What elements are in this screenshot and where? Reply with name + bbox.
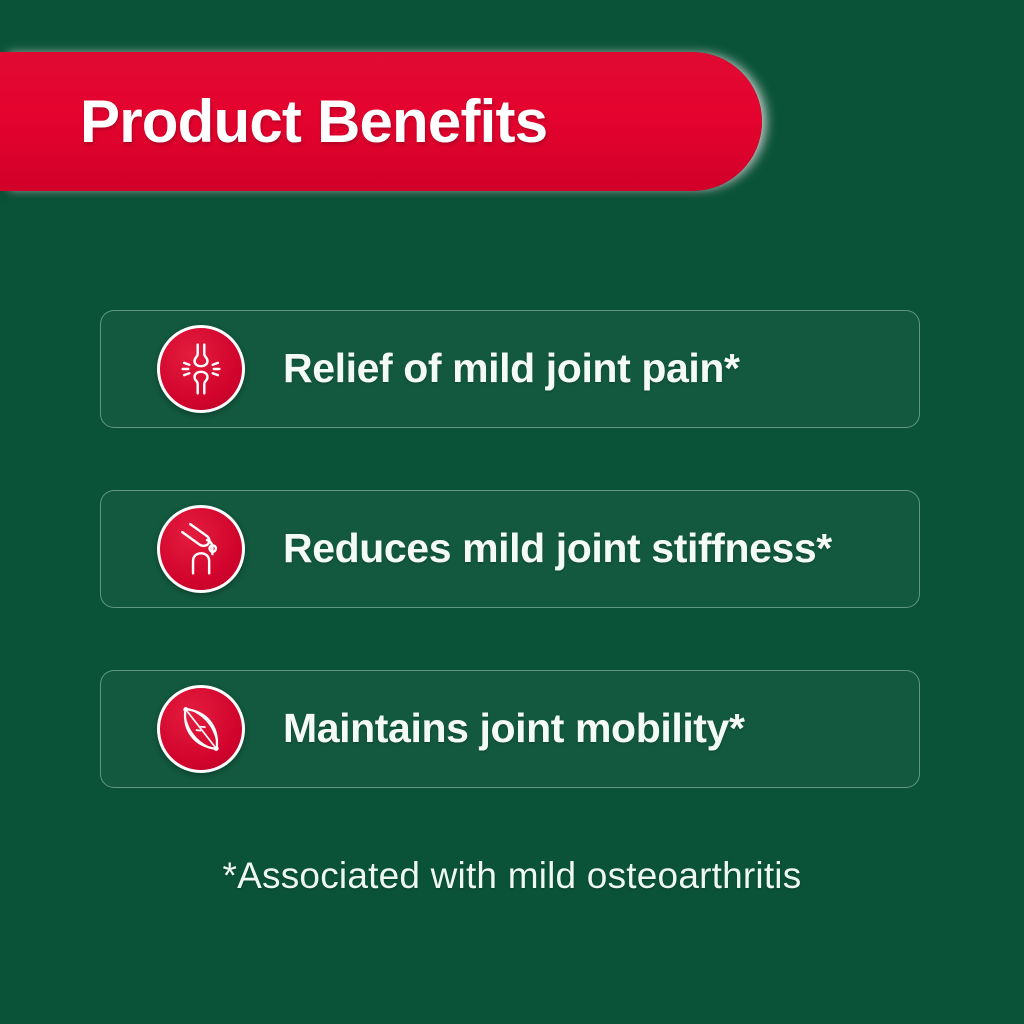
benefit-card-joint-mobility[interactable]: Maintains joint mobility* [100,670,920,788]
joint-stiffness-icon [157,505,245,593]
header-banner-pill: Product Benefits [0,52,762,191]
joint-mobility-icon [157,685,245,773]
benefits-list: Relief of mild joint pain* Reduces mild … [100,310,920,788]
benefit-label-joint-stiffness: Reduces mild joint stiffness* [283,527,832,570]
product-benefits-page: { "theme": { "background_green": "#0a533… [0,0,1024,1024]
joint-pain-icon [157,325,245,413]
benefit-card-joint-pain[interactable]: Relief of mild joint pain* [100,310,920,428]
header-banner: Product Benefits [0,52,762,191]
page-title: Product Benefits [80,92,547,152]
footnote-disclaimer: *Associated with mild osteoarthritis [0,855,1024,897]
benefit-label-joint-pain: Relief of mild joint pain* [283,347,740,390]
benefit-card-joint-stiffness[interactable]: Reduces mild joint stiffness* [100,490,920,608]
benefit-label-joint-mobility: Maintains joint mobility* [283,707,745,750]
